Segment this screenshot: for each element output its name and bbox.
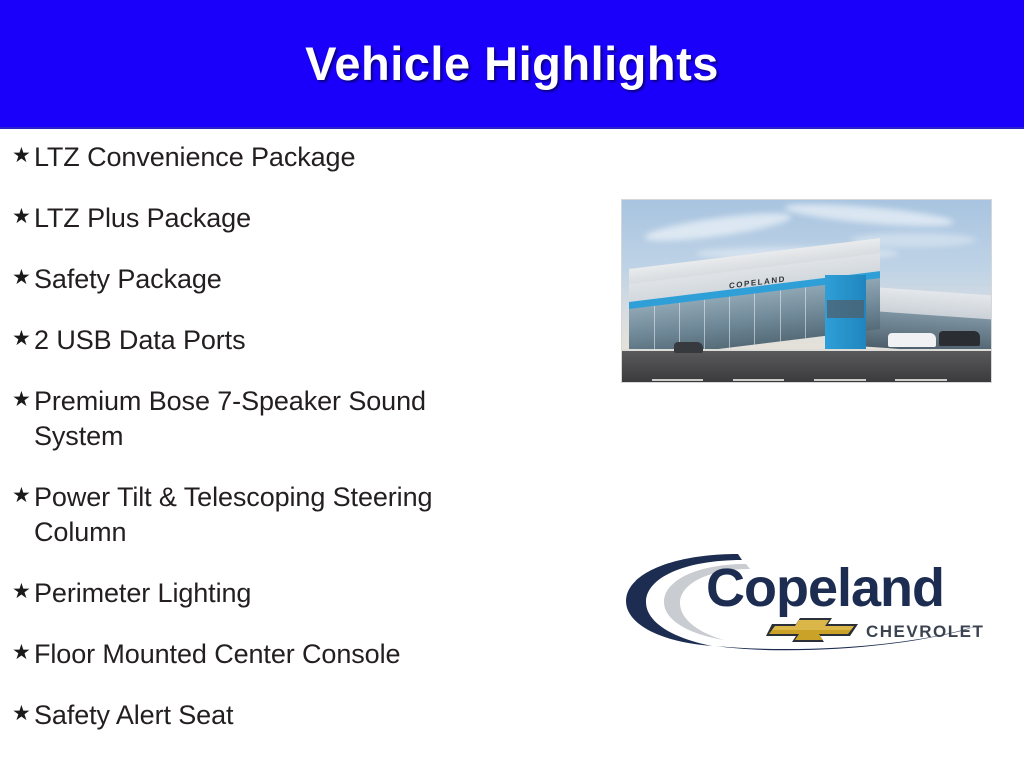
highlight-list-item: ★Floor Mounted Center Console	[8, 637, 528, 672]
star-bullet-icon: ★	[8, 637, 34, 669]
photo-parking-lot	[622, 351, 991, 382]
dealership-exterior-photo: COPELAND	[621, 199, 992, 383]
star-bullet-icon: ★	[8, 323, 34, 355]
star-bullet-icon: ★	[8, 480, 34, 512]
highlight-item-label: Power Tilt & Telescoping Steering Column	[34, 480, 494, 550]
photo-car	[674, 342, 704, 353]
highlight-list-item: ★Power Tilt & Telescoping Steering Colum…	[8, 480, 528, 550]
highlight-item-label: Perimeter Lighting	[34, 576, 528, 611]
logo-brand-text: CHEVROLET	[866, 622, 984, 641]
photo-car	[939, 331, 980, 346]
highlight-item-label: Safety Alert Seat	[34, 698, 528, 733]
star-bullet-icon: ★	[8, 262, 34, 294]
copeland-chevrolet-logo: Copeland CHEVROLET	[620, 548, 990, 652]
vehicle-highlights-list: ★LTZ Convenience Package★LTZ Plus Packag…	[8, 140, 528, 759]
star-bullet-icon: ★	[8, 140, 34, 172]
header-divider	[0, 127, 1024, 129]
highlight-item-label: LTZ Plus Package	[34, 201, 528, 236]
highlight-item-label: LTZ Convenience Package	[34, 140, 528, 175]
star-bullet-icon: ★	[8, 698, 34, 730]
highlight-item-label: 2 USB Data Ports	[34, 323, 528, 358]
highlight-list-item: ★Premium Bose 7-Speaker Sound System	[8, 384, 528, 454]
highlight-list-item: ★LTZ Convenience Package	[8, 140, 528, 175]
highlight-list-item: ★LTZ Plus Package	[8, 201, 528, 236]
star-bullet-icon: ★	[8, 201, 34, 233]
highlight-list-item: ★Safety Package	[8, 262, 528, 297]
highlight-list-item: ★Perimeter Lighting	[8, 576, 528, 611]
logo-wordmark: Copeland	[706, 558, 944, 618]
star-bullet-icon: ★	[8, 576, 34, 608]
highlight-item-label: Floor Mounted Center Console	[34, 637, 528, 672]
highlight-list-item: ★Safety Alert Seat	[8, 698, 528, 733]
star-bullet-icon: ★	[8, 384, 34, 416]
highlight-item-label: Premium Bose 7-Speaker Sound System	[34, 384, 494, 454]
page-title: Vehicle Highlights	[0, 36, 1024, 91]
chevrolet-bowtie-icon	[766, 618, 858, 642]
highlight-item-label: Safety Package	[34, 262, 528, 297]
highlight-list-item: ★2 USB Data Ports	[8, 323, 528, 358]
photo-building-tower-window	[827, 300, 864, 318]
photo-car	[888, 333, 936, 348]
